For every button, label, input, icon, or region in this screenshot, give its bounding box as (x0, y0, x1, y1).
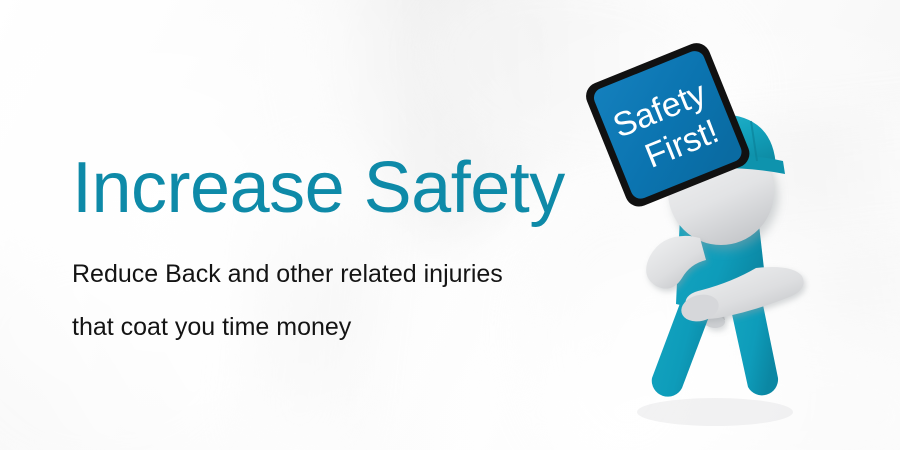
safety-banner: Increase Safety Reduce Back and other re… (0, 0, 900, 450)
subtitle-line-2: that coat you time money (72, 301, 565, 354)
text-block: Increase Safety Reduce Back and other re… (72, 152, 565, 354)
ground-shadow (637, 398, 793, 426)
headline: Increase Safety (72, 152, 565, 224)
subtitle-line-1: Reduce Back and other related injuries (72, 248, 565, 301)
worker-illustration: Safety First! (540, 20, 900, 450)
subtitle-group: Reduce Back and other related injuries t… (72, 248, 565, 354)
